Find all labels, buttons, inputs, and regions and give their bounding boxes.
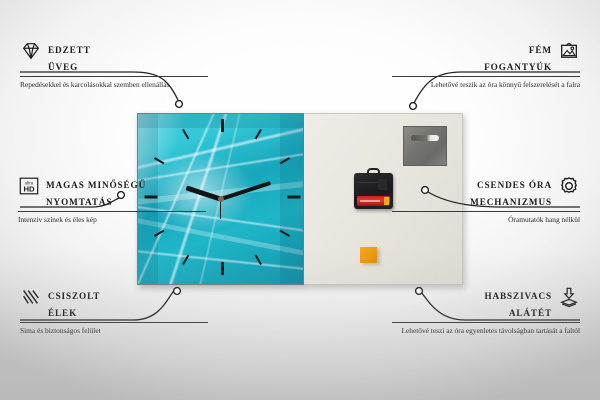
feature-high-quality-print[interactable]: ultra HD MAGAS MINŐSÉGŰ NYOMTATÁS Intenz… (18, 175, 206, 225)
feature-subtitle: Sima és biztonságos felület (20, 326, 208, 336)
polished-edges-icon (20, 286, 42, 308)
feature-title-line2: NYOMTATÁS (46, 197, 206, 209)
feature-title: CSENDES ÓRA (477, 180, 552, 192)
feature-subtitle: Lehetővé teszi az óra egyenletes távolsá… (392, 326, 580, 336)
feature-title-line2: ALÁTÉT (392, 308, 552, 320)
clock-pivot (218, 196, 224, 202)
battery-label (360, 200, 380, 202)
metal-hanger-plate (403, 126, 447, 166)
endpoint-metal-handles (410, 103, 417, 110)
picture-hanger-icon (558, 40, 580, 62)
feature-title: FÉM (529, 45, 552, 57)
feature-title: HABSZIVACS (484, 291, 552, 303)
second-hand (220, 199, 222, 219)
feature-foam-pad[interactable]: HABSZIVACS ALÁTÉT Lehetővé teszi az óra … (392, 286, 580, 336)
mechanism-panel (378, 179, 387, 190)
divider (392, 322, 580, 323)
foam-pad-icon (558, 286, 580, 308)
foam-spacer-pad (360, 247, 377, 263)
divider (20, 322, 208, 323)
feature-title-line2: ÉLEK (48, 308, 208, 320)
ultra-hd-icon: ultra HD (18, 175, 40, 197)
divider (392, 76, 580, 77)
feature-silent-mechanism[interactable]: CSENDES ÓRA MECHANIZMUS Óramutatók hang … (392, 175, 580, 225)
clock-mechanism (354, 173, 393, 209)
mechanism-seam (358, 182, 380, 183)
feature-metal-handles[interactable]: FÉM FOGANTYÚK Lehetővé teszik az óra kön… (392, 40, 580, 90)
feature-subtitle: Lehetővé teszik az óra könnyű felszerelé… (392, 80, 580, 90)
divider (20, 76, 208, 77)
gear-icon (558, 175, 580, 197)
feature-subtitle: Óramutatók hang nélkül (392, 215, 580, 225)
divider (392, 211, 580, 212)
infographic-canvas: EDZETT ÜVEG Repedésekkel és karcolásokka… (0, 0, 600, 400)
battery-terminal (384, 197, 389, 205)
mechanism-hook (367, 168, 380, 175)
feature-title-line2: ÜVEG (48, 62, 208, 74)
feature-subtitle: Intenzív színek és éles kép (18, 215, 206, 225)
divider (18, 211, 206, 212)
svg-text:HD: HD (23, 185, 35, 194)
battery (357, 196, 390, 206)
feature-polished-edges[interactable]: CSISZOLT ÉLEK Sima és biztonságos felüle… (20, 286, 208, 336)
hanger-slot (411, 135, 439, 141)
endpoint-tempered-glass (176, 101, 183, 108)
feature-title-line2: FOGANTYÚK (392, 62, 552, 74)
feature-title: MAGAS MINŐSÉGŰ (46, 180, 146, 192)
feature-tempered-glass[interactable]: EDZETT ÜVEG Repedésekkel és karcolásokka… (20, 40, 208, 90)
feature-title-line2: MECHANIZMUS (392, 197, 552, 209)
feature-title: CSISZOLT (48, 291, 100, 303)
diamond-icon (20, 40, 42, 62)
feature-title: EDZETT (48, 45, 91, 57)
feature-subtitle: Repedésekkel és karcolásokkal szemben el… (20, 80, 208, 90)
